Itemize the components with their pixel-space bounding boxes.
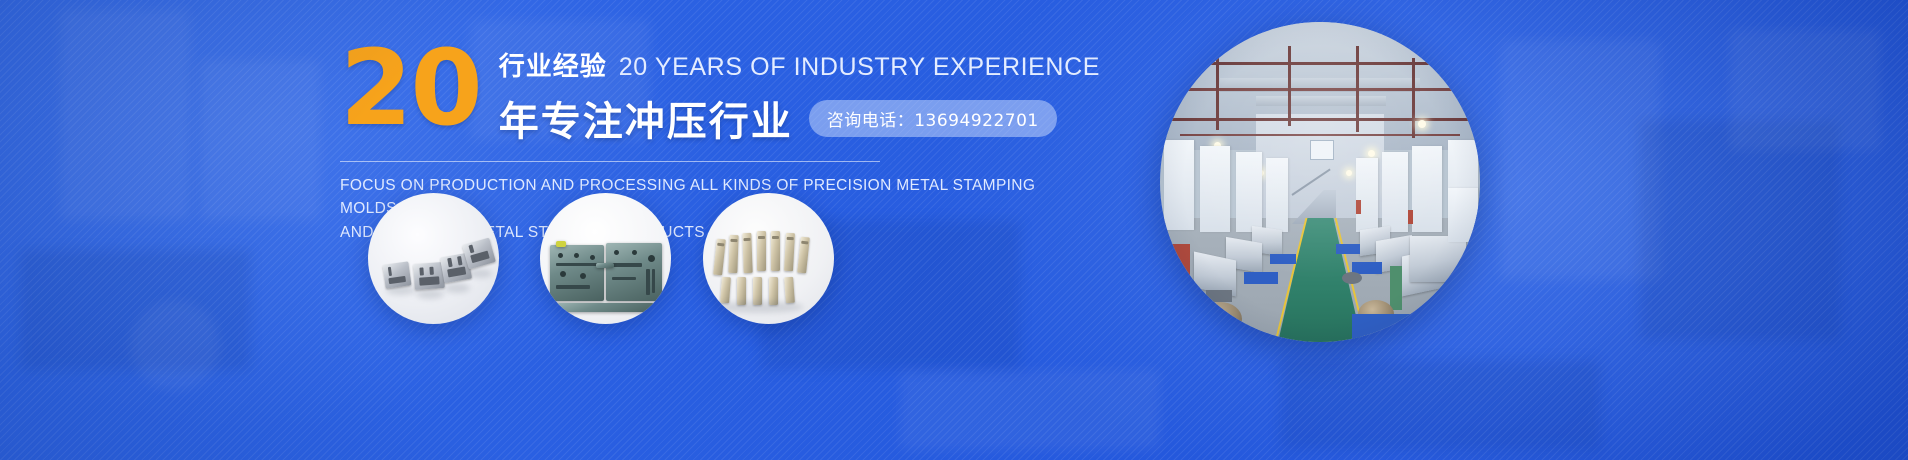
stamped-pin [797,237,810,274]
mould-base-bar [554,303,654,312]
experience-label-en: 20 YEARS OF INDUSTRY EXPERIENCE [619,53,1100,82]
stamped-pin [784,233,795,271]
product-circle-pins[interactable] [703,193,834,324]
stamped-pin [713,239,726,276]
promo-banner: 20 行业经验 20 YEARS OF INDUSTRY EXPERIENCE … [0,0,1908,460]
stamped-pin [720,277,731,304]
stamped-pin [757,231,766,271]
focus-industry-cn: 年专注冲压行业 [499,89,793,147]
experience-label-cn: 行业经验 [499,46,607,83]
stamped-pin [771,231,780,271]
connector-part [413,262,445,290]
connector-part [382,261,411,288]
headline-line-one: 行业经验 20 YEARS OF INDUSTRY EXPERIENCE [499,46,1100,83]
stamped-pin [784,277,795,304]
mould-tag [556,241,566,247]
connector-part [462,238,496,270]
years-number: 20 [340,44,481,133]
stamped-pin [728,235,738,273]
headline-line-two: 年专注冲压行业 咨询电话：13694922701 [499,89,1100,147]
factory-workshop-photo[interactable] [1160,22,1480,342]
contact-phone-badge[interactable]: 咨询电话：13694922701 [809,100,1057,137]
headline-text-group: 行业经验 20 YEARS OF INDUSTRY EXPERIENCE 年专注… [499,40,1100,147]
stamped-pin [742,233,752,273]
mould-plate-right [606,243,662,301]
product-circle-mould[interactable] [540,193,671,324]
headline-row: 20 行业经验 20 YEARS OF INDUSTRY EXPERIENCE … [340,40,1100,147]
mould-bridge-pin [596,263,614,268]
mould-plate-left [550,245,604,301]
divider-rule [340,161,880,162]
product-circle-connectors[interactable] [368,193,499,324]
